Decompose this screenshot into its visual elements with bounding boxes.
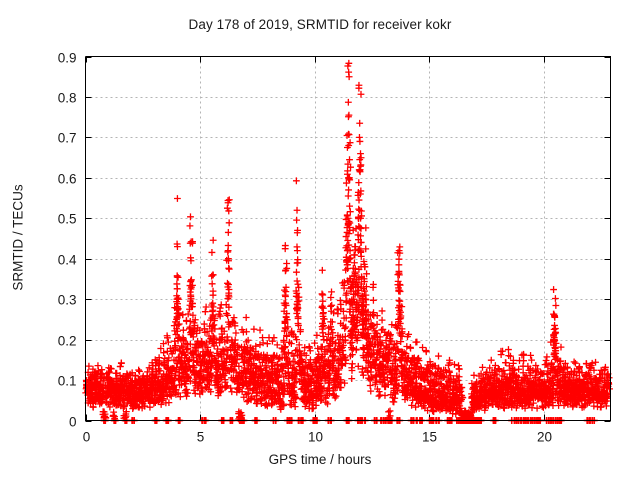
data-point-marker [217,305,224,312]
data-point-marker [357,162,364,169]
data-point-marker [294,256,301,263]
data-point-marker [187,222,194,229]
data-point-marker [527,352,534,359]
data-point-marker [180,327,187,334]
data-point-marker [294,278,301,285]
y-tick-label: 0.5 [58,211,77,226]
data-point-marker [110,409,117,416]
data-point-marker [345,131,352,138]
x-tick-label: 15 [422,430,437,445]
data-point-marker [344,237,351,244]
data-point-marker [135,367,142,374]
data-point-marker [210,288,217,295]
data-point-marker [174,272,181,279]
data-point-marker [356,197,363,204]
data-point-marker [314,345,321,352]
data-point-marker [282,267,289,274]
data-point-marker [209,249,216,256]
data-point-marker [552,295,559,302]
data-points-group [82,60,613,424]
data-point-marker [174,195,181,202]
data-point-marker [208,273,215,280]
data-point-marker [558,344,565,351]
data-point-marker [550,286,557,293]
data-point-marker [390,399,397,406]
srmtid-scatter-figure: Day 178 of 2019, SRMTID for receiver kok… [0,0,640,480]
data-point-marker [243,314,250,321]
x-tick-label: 20 [537,430,552,445]
data-point-marker [117,363,124,370]
data-point-marker [226,266,233,273]
data-point-marker [202,308,209,315]
data-point-marker [328,288,335,295]
y-tick-label: 0.8 [58,90,77,105]
data-point-marker [408,402,415,409]
data-point-marker [345,193,352,200]
data-point-marker [346,203,353,210]
data-point-marker [528,357,535,364]
data-point-marker [412,339,419,346]
y-tick-label: 0.7 [58,130,77,145]
data-point-marker [451,361,458,368]
data-point-marker [225,242,232,249]
data-point-marker [502,359,509,366]
data-point-marker [396,256,403,263]
data-point-marker [382,383,389,390]
data-point-marker [435,353,442,360]
data-point-marker [488,357,495,364]
data-point-marker [382,392,389,399]
data-point-marker [183,386,190,393]
data-point-marker [313,332,320,339]
data-point-marker [396,270,403,277]
data-point-marker [165,339,172,346]
data-point-marker [320,309,327,316]
data-point-marker [499,348,506,355]
x-tick-label: 0 [83,430,91,445]
data-point-marker [397,288,404,295]
data-point-marker [251,326,258,333]
data-point-marker [379,317,386,324]
data-point-marker [515,366,522,373]
data-point-marker [592,359,599,366]
data-point-marker [348,375,355,382]
data-point-marker [423,348,430,355]
data-point-marker [319,291,326,298]
plot-canvas: 00.10.20.30.40.50.60.70.80.905101520 [0,0,640,480]
data-point-marker [187,213,194,220]
data-point-marker [233,330,240,337]
y-tick-label: 0.9 [58,50,77,65]
data-point-marker [282,293,289,300]
data-point-marker [337,297,344,304]
y-tick-label: 0.4 [58,252,77,267]
data-point-marker [210,271,217,278]
data-point-marker [295,281,302,288]
data-point-marker [327,294,334,301]
y-tick-label: 0 [69,414,77,429]
data-point-marker [357,138,364,145]
data-point-marker [419,344,426,351]
data-point-marker [118,360,125,367]
data-point-marker [543,353,550,360]
data-point-marker [396,297,403,304]
data-point-marker [356,120,363,127]
data-point-marker [136,368,143,375]
data-point-marker [359,369,366,376]
data-point-marker [341,325,348,332]
data-point-marker [353,346,360,353]
data-point-marker [282,245,289,252]
data-point-marker [346,73,353,80]
data-point-marker [293,269,300,276]
data-point-marker [367,382,374,389]
data-point-marker [349,360,356,367]
data-point-marker [505,346,512,353]
data-point-marker [147,404,154,411]
data-point-marker [225,229,232,236]
data-point-marker [346,112,353,119]
data-point-marker [455,362,462,369]
data-point-marker [362,224,369,231]
data-point-marker [552,302,559,309]
y-tick-label: 0.3 [58,292,77,307]
data-point-marker [345,187,352,194]
data-point-marker [346,156,353,163]
data-point-marker [327,303,334,310]
data-point-marker [403,343,410,350]
data-point-marker [355,179,362,186]
data-point-marker [319,267,326,274]
data-point-marker [293,177,300,184]
data-point-marker [293,217,300,224]
y-tick-label: 0.1 [58,373,77,388]
y-tick-label: 0.6 [58,171,77,186]
data-point-marker [183,393,190,400]
data-point-marker [379,308,386,315]
data-point-marker [295,313,302,320]
data-point-marker [226,219,233,226]
data-point-marker [479,364,486,371]
data-point-marker [358,91,365,98]
data-point-marker [328,302,335,309]
y-tick-label: 0.2 [58,333,77,348]
data-point-marker [345,99,352,106]
data-point-marker [376,393,383,400]
data-point-marker [319,292,326,299]
data-point-marker [357,224,364,231]
data-point-marker [370,297,377,304]
data-point-marker [329,319,336,326]
data-point-marker [185,311,192,318]
data-point-marker [224,295,231,302]
data-point-marker [520,357,527,364]
data-point-marker [224,280,231,287]
data-point-marker [572,360,579,367]
data-point-marker [294,207,301,214]
data-point-marker [209,280,216,287]
data-point-marker [224,249,231,256]
data-point-marker [344,212,351,219]
data-point-marker [471,372,478,379]
data-point-marker [571,358,578,365]
x-tick-label: 5 [197,430,205,445]
data-point-marker [174,285,181,292]
data-point-marker [407,345,414,352]
data-point-marker [456,366,463,373]
data-point-marker [294,247,301,254]
data-point-marker [351,259,358,266]
data-point-marker [210,237,217,244]
data-point-marker [396,243,403,250]
data-point-marker [274,341,281,348]
x-tick-label: 10 [308,430,323,445]
data-point-marker [347,208,354,215]
data-point-marker [257,327,264,334]
